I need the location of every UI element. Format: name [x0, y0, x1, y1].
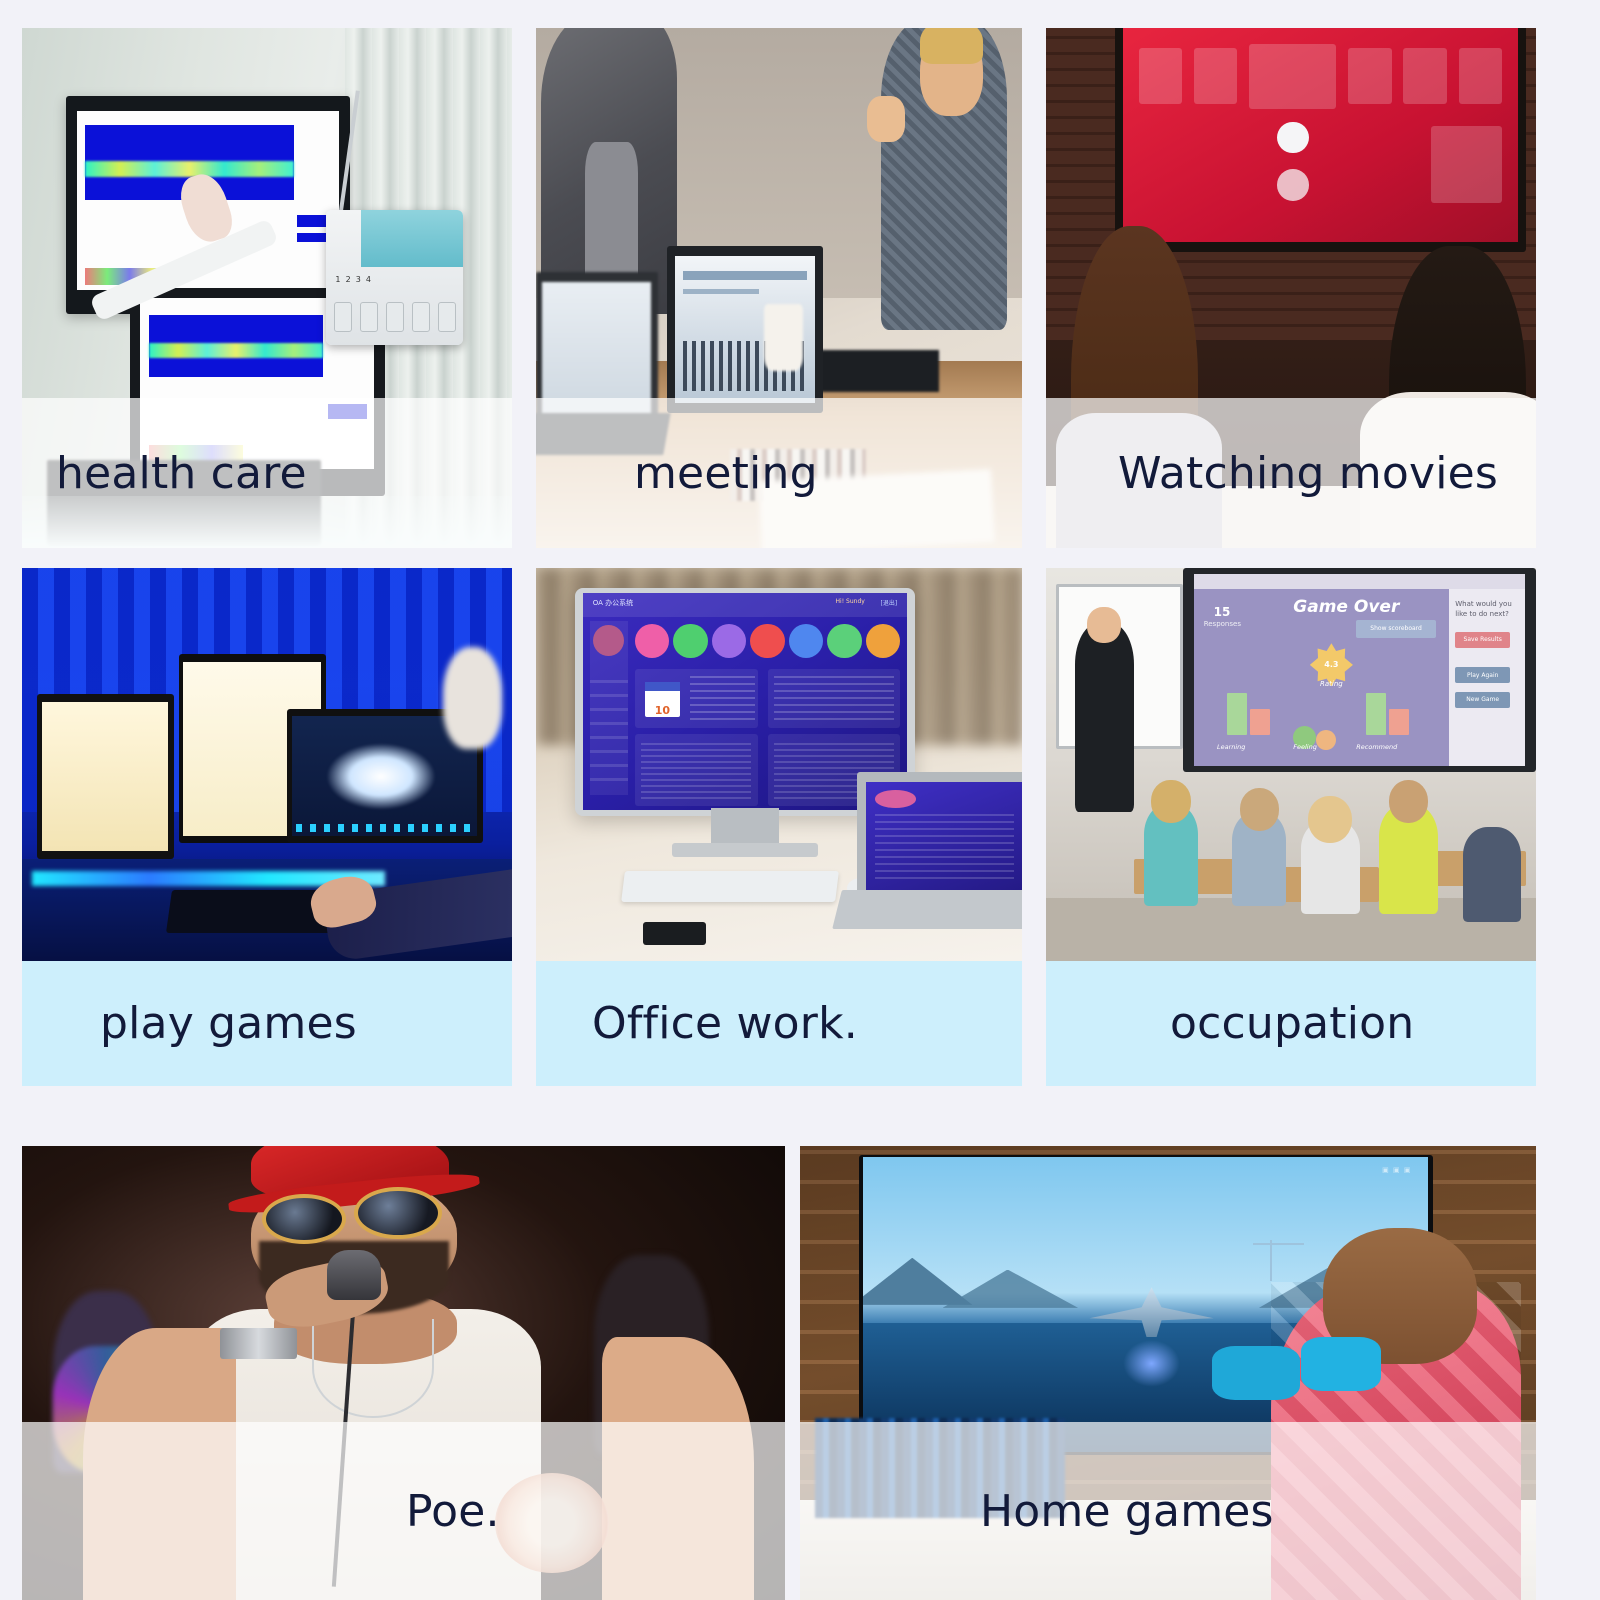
- caption-text: health care: [56, 448, 307, 499]
- new-game-button[interactable]: New Game: [1455, 692, 1510, 708]
- oa-calendar-day: 10: [655, 705, 670, 717]
- caption-text: Office work.: [592, 998, 858, 1049]
- caption-play-games: play games: [22, 961, 512, 1086]
- gallery-tile-watching-movies[interactable]: Watching movies: [1046, 28, 1536, 548]
- caption-home-games: Home games: [800, 1422, 1536, 1600]
- gallery-tile-occupation[interactable]: What would you like to do next? Save Res…: [1046, 568, 1536, 1086]
- photo-play-games: [22, 568, 512, 961]
- photo-occupation: What would you like to do next? Save Res…: [1046, 568, 1536, 961]
- gallery-tile-office-work[interactable]: OA 办公系统 Hi! Sundy [退出]: [536, 568, 1022, 1086]
- classroom-quiz-screen: What would you like to do next? Save Res…: [1194, 574, 1526, 766]
- oa-greeting: Hi! Sundy: [836, 598, 865, 605]
- oa-title: OA 办公系统: [593, 598, 633, 608]
- quiz-bar-label-feeling: Feeling: [1293, 743, 1317, 751]
- quiz-rating-label: Rating: [1303, 680, 1359, 688]
- oa-logout[interactable]: [退出]: [881, 598, 898, 607]
- show-scoreboard-button[interactable]: Show scoreboard: [1356, 620, 1436, 637]
- caption-text: Home games: [980, 1486, 1274, 1537]
- caption-occupation: occupation: [1046, 961, 1536, 1086]
- quiz-responses-label: Responses: [1204, 620, 1241, 628]
- gallery-tile-meeting[interactable]: meeting: [536, 28, 1022, 548]
- caption-office-work: Office work.: [536, 961, 1022, 1086]
- caption-poe: Poe.: [22, 1422, 785, 1600]
- caption-text: meeting: [634, 448, 818, 499]
- caption-text: occupation: [1170, 998, 1414, 1049]
- caption-text: Watching movies: [1118, 448, 1498, 499]
- caption-text: play games: [100, 998, 357, 1049]
- quiz-responses-count: 15: [1214, 605, 1231, 619]
- gallery-tile-poe[interactable]: Poe.: [22, 1146, 785, 1600]
- quiz-bar-label-learning: Learning: [1217, 743, 1245, 751]
- play-again-button[interactable]: Play Again: [1455, 667, 1510, 683]
- photo-office-work: OA 办公系统 Hi! Sundy [退出]: [536, 568, 1022, 961]
- gallery-tile-play-games[interactable]: play games: [22, 568, 512, 1086]
- gallery-tile-home-games[interactable]: ▣ ▣ ▣ Home games: [800, 1146, 1536, 1600]
- image-gallery-grid: 1 2 3 4 health care: [0, 0, 1600, 1600]
- quiz-title: Game Over: [1273, 597, 1419, 617]
- quiz-prompt: What would you like to do next?: [1455, 600, 1519, 620]
- gallery-tile-health-care[interactable]: 1 2 3 4 health care: [22, 28, 512, 548]
- caption-watching-movies: Watching movies: [1046, 398, 1536, 548]
- quiz-bar-label-recommend: Recommend: [1356, 743, 1397, 751]
- caption-text: Poe.: [406, 1486, 500, 1537]
- save-results-button[interactable]: Save Results: [1455, 632, 1510, 648]
- caption-health-care: health care: [22, 398, 512, 548]
- caption-meeting: meeting: [536, 398, 1022, 548]
